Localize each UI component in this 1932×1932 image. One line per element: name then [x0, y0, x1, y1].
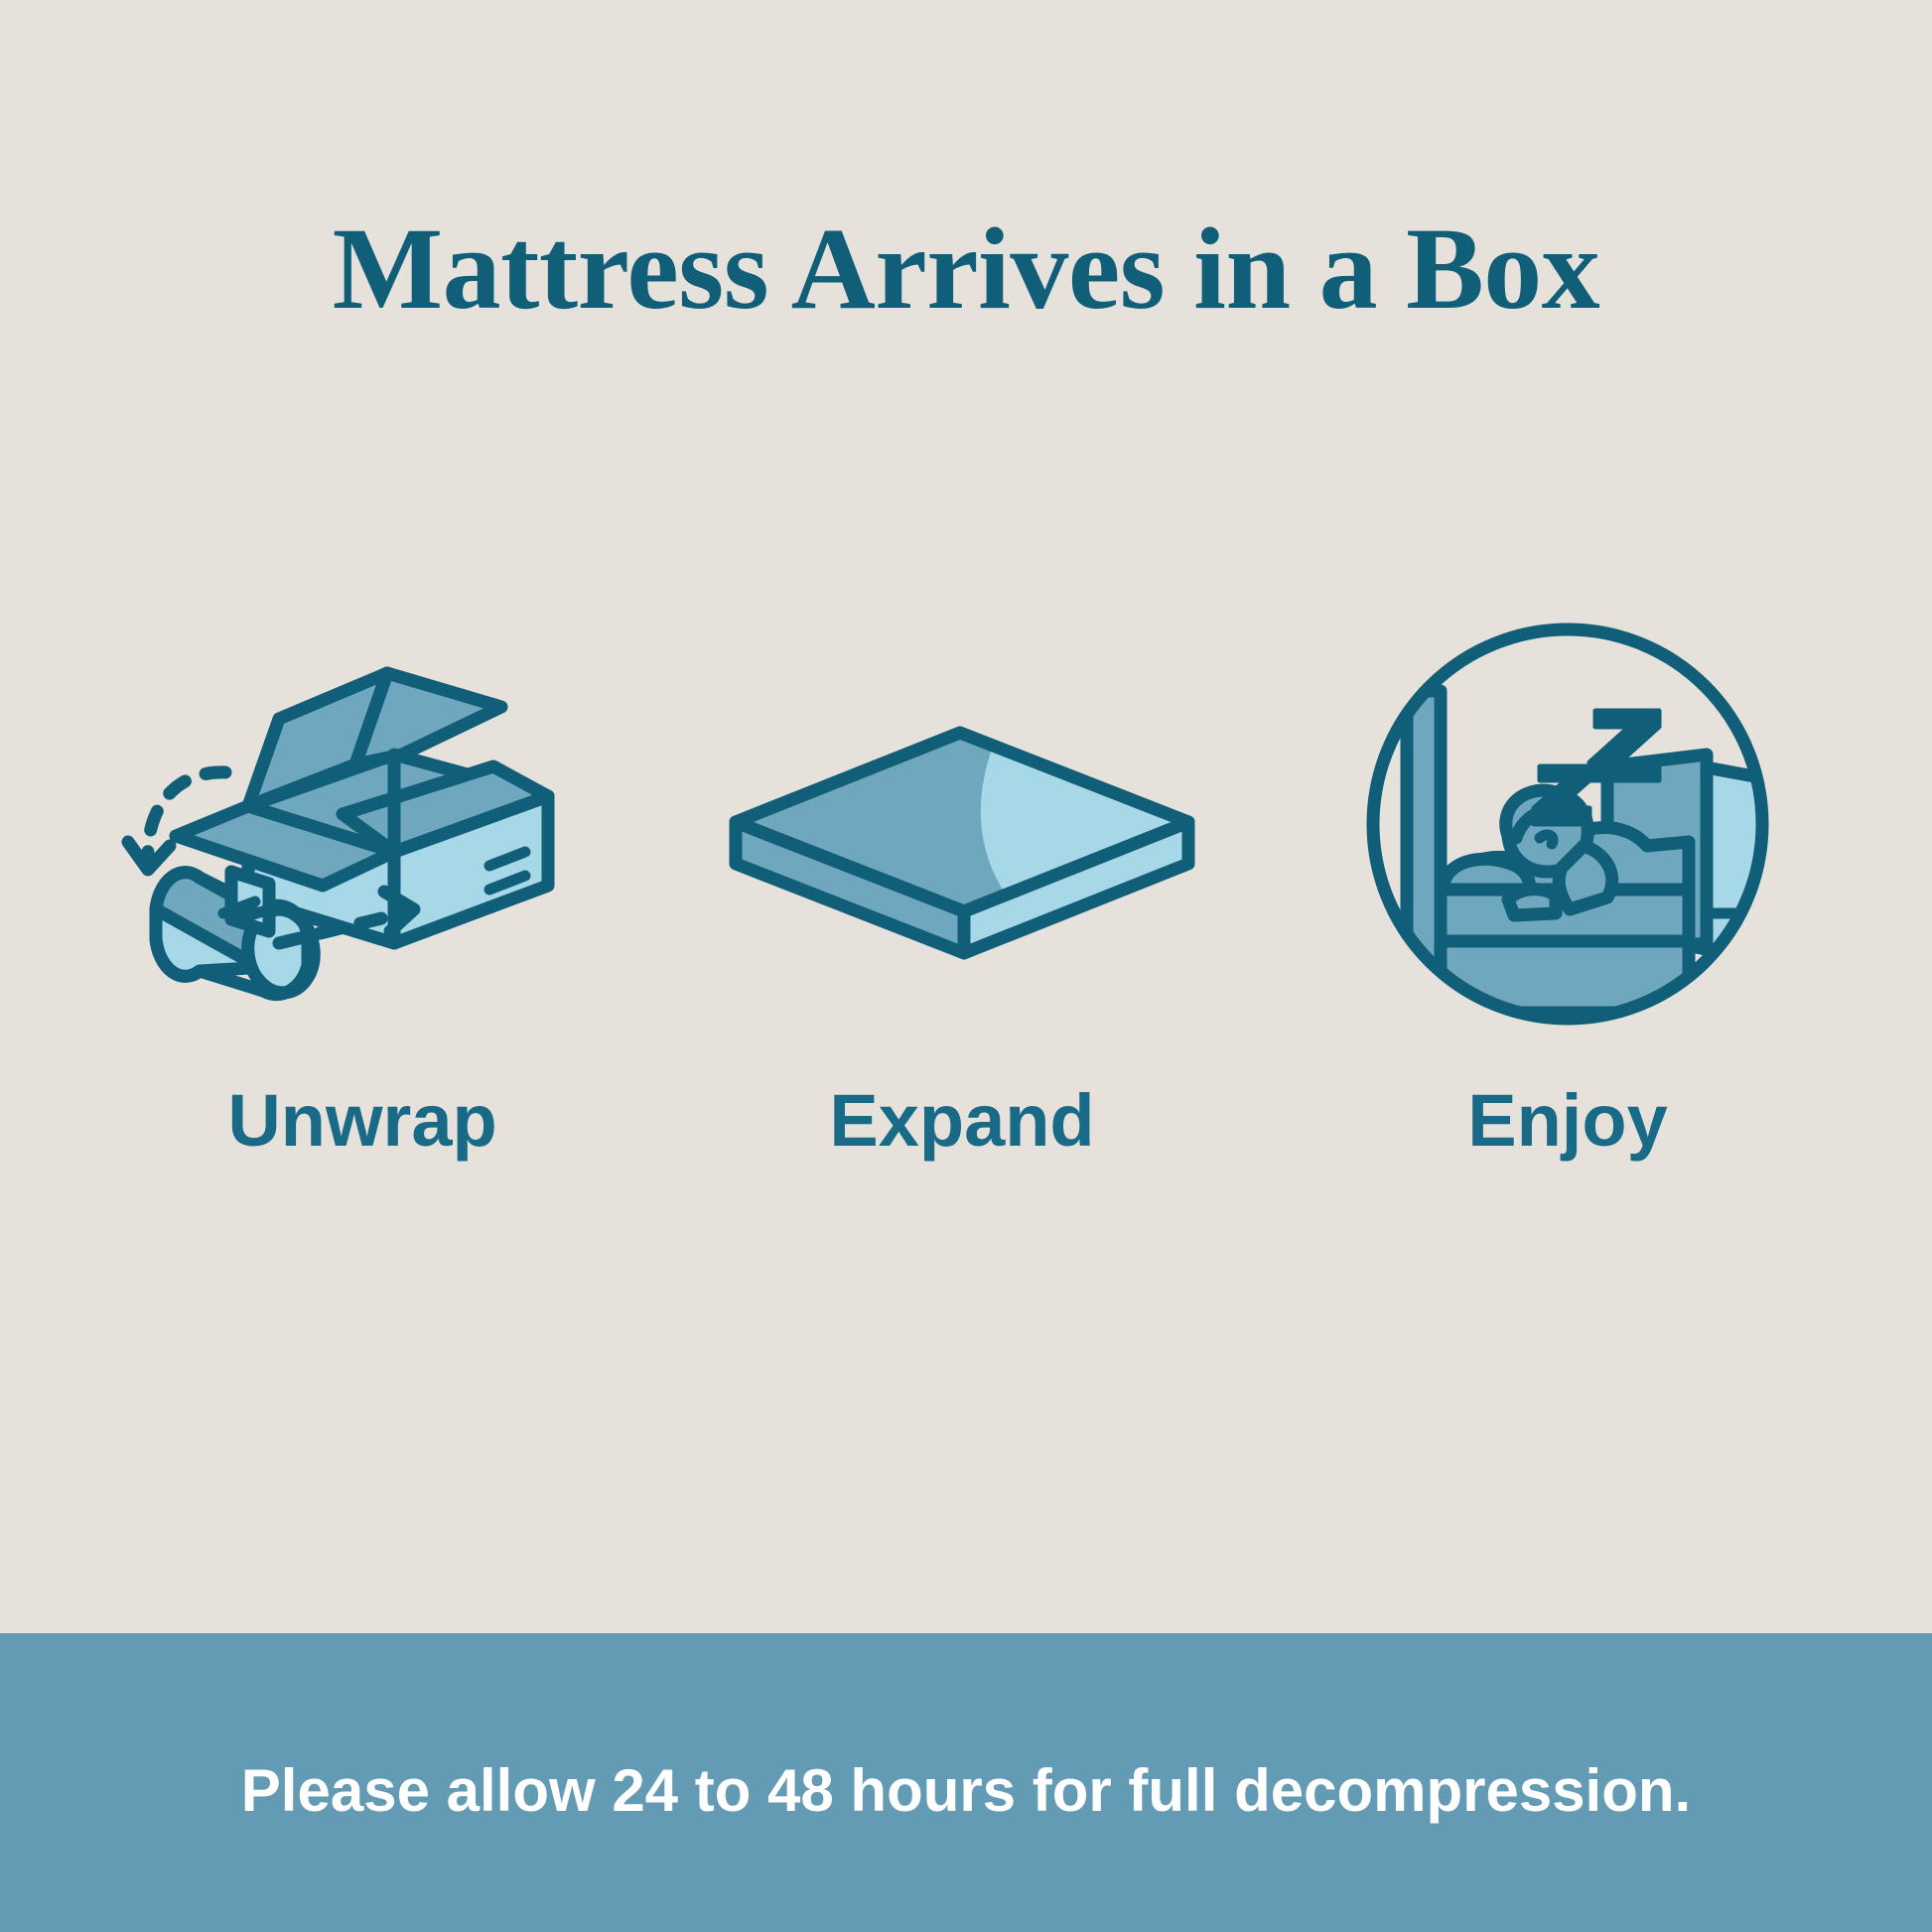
infographic-page: Mattress Arrives in a Box [0, 0, 1932, 1932]
page-title: Mattress Arrives in a Box [333, 207, 1600, 331]
footer-banner: Please allow 24 to 48 hours for full dec… [0, 1633, 1932, 1932]
step-enjoy: Enjoy [1270, 616, 1865, 1158]
decompression-note: Please allow 24 to 48 hours for full dec… [241, 1755, 1691, 1827]
step-label-expand: Expand [829, 1084, 1094, 1158]
step-label-unwrap: Unwrap [227, 1084, 496, 1158]
step-unwrap: Unwrap [65, 616, 660, 1158]
expanded-mattress-icon [704, 616, 1220, 1033]
step-expand: Expand [664, 616, 1260, 1158]
box-with-rolled-mattress-icon [104, 616, 621, 1033]
page-title-container: Mattress Arrives in a Box [0, 0, 1932, 417]
steps-row: Unwrap [0, 616, 1932, 1311]
step-label-enjoy: Enjoy [1467, 1084, 1667, 1158]
person-sleeping-in-bed-icon [1310, 616, 1826, 1033]
